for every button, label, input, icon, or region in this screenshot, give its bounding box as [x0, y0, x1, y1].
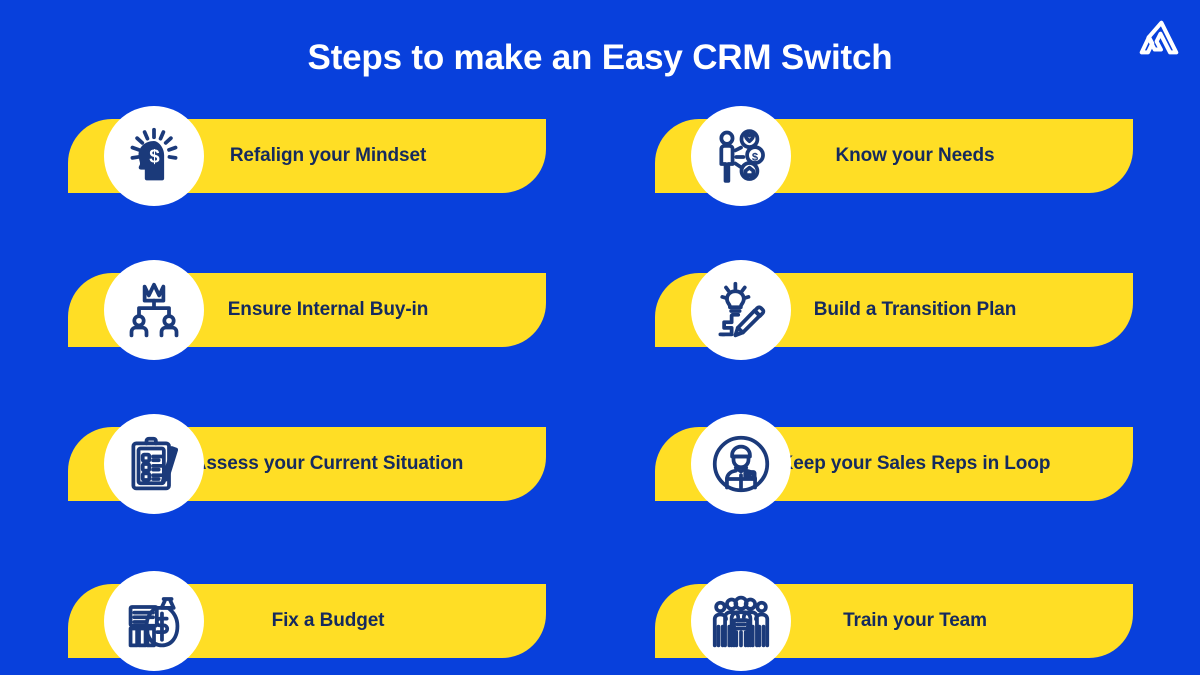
svg-text:$: $ [752, 152, 759, 164]
person-needs-bubbles-icon: $ [691, 106, 791, 206]
step-card-assess-your-current-situation[interactable]: Assess your Current Situation [68, 427, 546, 501]
steps-grid: $ Refalign your Mindset [0, 110, 1200, 675]
step-label: Train your Team [745, 584, 1085, 658]
crown-org-chart-icon [104, 260, 204, 360]
svg-text:$: $ [149, 146, 160, 167]
clipboard-checklist-pencil-icon [104, 414, 204, 514]
step-card-fix-a-budget[interactable]: Fix a Budget [68, 584, 546, 658]
step-card-keep-your-sales-reps-in-loop[interactable]: Keep your Sales Reps in Loop [655, 427, 1133, 501]
page-title: Steps to make an Easy CRM Switch [0, 36, 1200, 80]
step-card-build-a-transition-plan[interactable]: Build a Transition Plan [655, 273, 1133, 347]
step-card-ensure-internal-buy-in[interactable]: Ensure Internal Buy-in [68, 273, 546, 347]
step-card-know-your-needs[interactable]: $ Know your Needs [655, 119, 1133, 193]
step-card-refalign-your-mindset[interactable]: $ Refalign your Mindset [68, 119, 546, 193]
step-card-team-group-people[interactable]: Train your Team [655, 584, 1133, 658]
step-label: Build a Transition Plan [745, 273, 1085, 347]
step-label: Assess your Current Situation [158, 427, 498, 501]
step-label: Refalign your Mindset [158, 119, 498, 193]
step-label: Ensure Internal Buy-in [158, 273, 498, 347]
sales-rep-badge-icon [691, 414, 791, 514]
team-group-people-icon [691, 571, 791, 671]
step-label: Know your Needs [745, 119, 1085, 193]
head-dollar-idea-icon: $ [104, 106, 204, 206]
step-label: Fix a Budget [158, 584, 498, 658]
lightbulb-pencil-plan-icon [691, 260, 791, 360]
document-money-bag-icon [104, 571, 204, 671]
infographic-canvas: Steps to make an Easy CRM Switch [0, 0, 1200, 675]
step-label: Keep your Sales Reps in Loop [745, 427, 1085, 501]
